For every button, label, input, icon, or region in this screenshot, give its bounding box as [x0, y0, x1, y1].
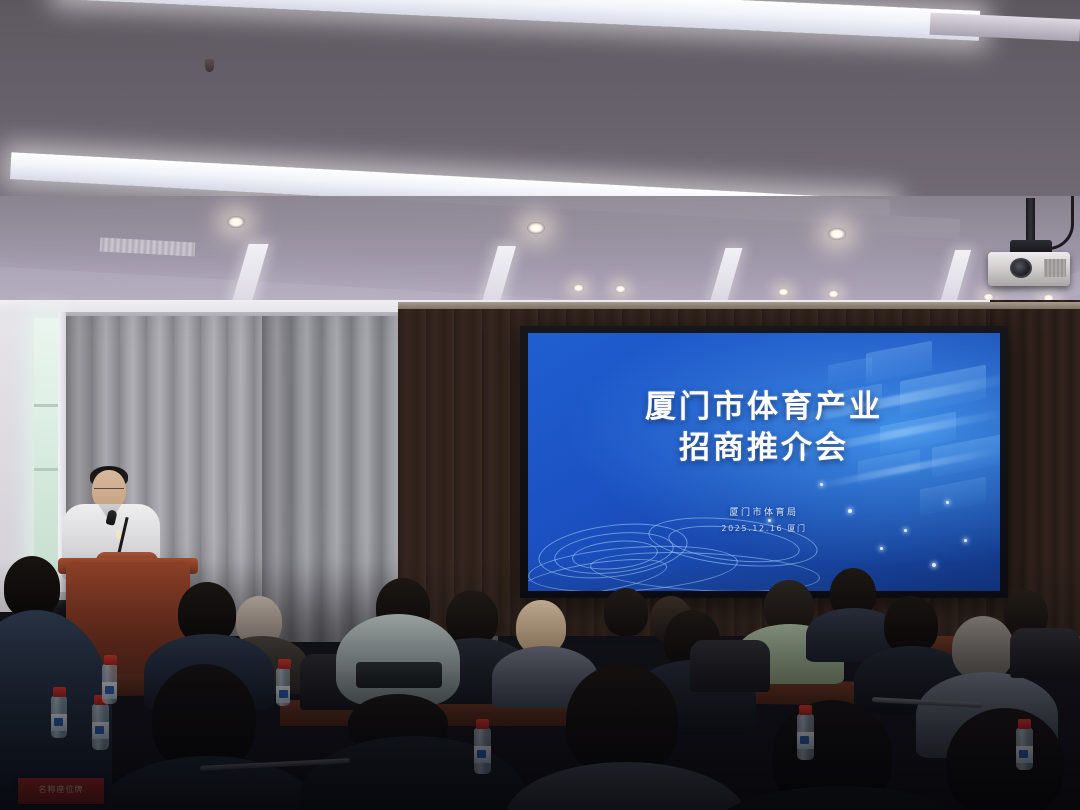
bottle-label: [474, 746, 491, 763]
bottle-label: [1016, 746, 1033, 763]
attendee-shoulders: [712, 786, 968, 810]
water-bottle[interactable]: [92, 704, 109, 750]
slide-star: [964, 539, 967, 542]
slide-title: 厦门市体育产业 招商推介会: [528, 387, 1000, 469]
grey-baseball-cap: [336, 614, 460, 706]
water-bottle[interactable]: [797, 714, 814, 760]
attendee-head: [952, 616, 1014, 680]
projector-lens-icon: [1010, 258, 1032, 278]
slide-organizer: 厦门市体育局: [528, 505, 1000, 522]
slide-title-line2: 招商推介会: [528, 428, 1000, 469]
slide-star: [880, 547, 883, 550]
projector-vent: [1044, 259, 1066, 277]
chair-back: [1010, 628, 1080, 678]
recessed-downlight: [778, 288, 789, 296]
bottle-cap: [104, 655, 117, 665]
bottle-cap: [1018, 719, 1031, 729]
projector-mount: [1026, 198, 1035, 244]
attendee-head: [4, 556, 60, 618]
bottle-label: [102, 682, 117, 699]
bottle-label: [797, 732, 814, 749]
name-placard-text: 名称座位牌: [18, 784, 104, 795]
water-bottle[interactable]: [474, 728, 491, 774]
attendee-shoulders: [506, 762, 746, 810]
recessed-downlight: [828, 290, 839, 298]
led-display-bezel: 厦门市体育产业 招商推介会 厦门市体育局 2025.12.16 厦门: [520, 326, 1008, 598]
water-bottle[interactable]: [276, 668, 290, 706]
slide-star: [820, 483, 823, 486]
bottle-cap: [53, 687, 66, 697]
bottle-label: [92, 722, 109, 739]
water-bottle[interactable]: [102, 664, 117, 704]
speaker-glasses-icon: [94, 488, 124, 494]
slide-date-location: 2025.12.16 厦门: [528, 522, 1000, 537]
chair-back: [690, 640, 770, 692]
bottle-cap: [476, 719, 489, 729]
recessed-downlight: [573, 284, 584, 292]
slide-star: [932, 563, 936, 567]
recessed-downlight: [227, 216, 245, 228]
slide-title-line1: 厦门市体育产业: [528, 387, 1000, 428]
recessed-downlight: [615, 285, 626, 293]
side-window: [34, 318, 60, 586]
suspended-ceiling: [0, 0, 1080, 330]
led-display-wall[interactable]: 厦门市体育产业 招商推介会 厦门市体育局 2025.12.16 厦门: [528, 333, 1000, 591]
fire-sprinkler: [205, 59, 214, 72]
slide-star: [946, 501, 949, 504]
attendee-shoulders: [300, 736, 526, 810]
bottle-cap: [278, 659, 291, 669]
attendee-head: [566, 664, 678, 776]
wood-wall-trim: [398, 302, 1080, 309]
attendee-head: [946, 708, 1064, 810]
slide-subtitle: 厦门市体育局 2025.12.16 厦门: [528, 505, 1000, 536]
bottle-cap: [799, 705, 812, 715]
bottle-label: [276, 686, 290, 703]
conference-photo-scene: 厦门市体育产业 招商推介会 厦门市体育局 2025.12.16 厦门: [0, 0, 1080, 810]
recessed-downlight: [527, 222, 545, 234]
water-bottle[interactable]: [51, 696, 67, 738]
name-placard: 名称座位牌: [18, 778, 104, 804]
cap-adjuster-strap: [356, 662, 442, 688]
water-bottle[interactable]: [1016, 728, 1033, 770]
attendee-head: [604, 588, 648, 636]
recessed-downlight: [828, 228, 846, 240]
bottle-label: [51, 714, 67, 731]
